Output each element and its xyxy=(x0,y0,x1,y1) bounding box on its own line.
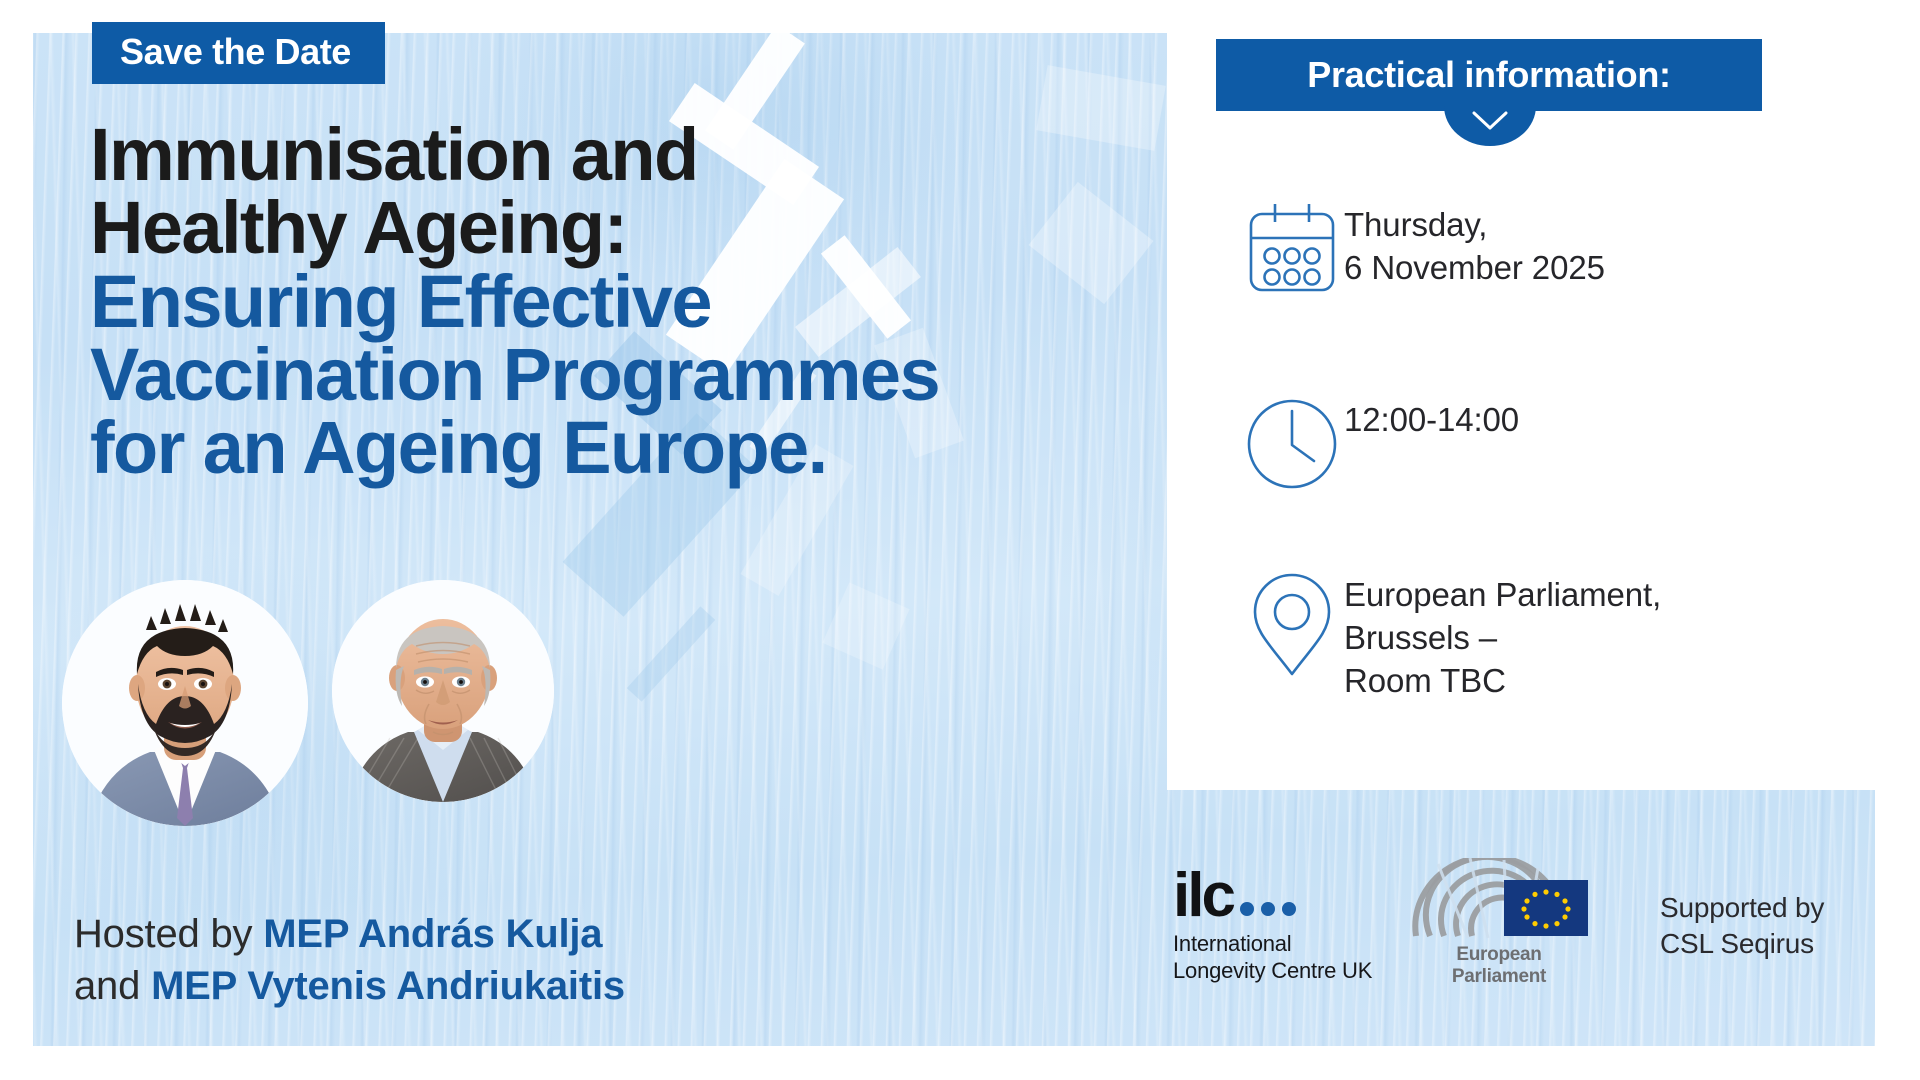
host-name-1: MEP András Kulja xyxy=(263,912,602,956)
host-name-2: MEP Vytenis Andriukaitis xyxy=(151,964,625,1008)
save-the-date-badge: Save the Date xyxy=(92,22,385,84)
hosts-prefix-1: Hosted by xyxy=(74,912,263,956)
ilc-subtitle-line-1: International xyxy=(1173,931,1372,958)
location-line-2: Brussels – xyxy=(1344,617,1661,660)
title-line-5: for an Ageing Europe. xyxy=(90,411,1150,484)
ilc-wordmark-row: ilc xyxy=(1173,866,1372,922)
ilc-dots-icon xyxy=(1240,902,1296,916)
title-line-4: Vaccination Programmes xyxy=(90,338,1150,411)
title-line-2: Healthy Ageing: xyxy=(90,191,1150,264)
location-line-1: European Parliament, xyxy=(1344,574,1661,617)
chevron-down-icon xyxy=(1469,108,1511,134)
hosts-credit: Hosted by MEP András Kulja and MEP Vyten… xyxy=(74,908,974,1012)
hosts-line-2: and MEP Vytenis Andriukaitis xyxy=(74,960,974,1012)
european-parliament-name: European Parliament xyxy=(1408,944,1590,988)
ilc-logo: ilc International Longevity Centre UK xyxy=(1173,866,1372,985)
clock-icon-wrap xyxy=(1240,395,1344,493)
avatar-andras-kulja xyxy=(62,580,308,826)
ilc-dot xyxy=(1240,902,1254,916)
calendar-icon-wrap xyxy=(1240,200,1344,298)
info-row-time: 12:00-14:00 xyxy=(1240,395,1519,493)
hosts-line-1: Hosted by MEP András Kulja xyxy=(74,908,974,960)
eu-stars-icon xyxy=(1504,880,1588,936)
location-line-3: Room TBC xyxy=(1344,660,1661,703)
location-pin-icon-wrap xyxy=(1240,570,1344,682)
portrait-photo xyxy=(332,580,554,802)
eu-flag-icon xyxy=(1504,880,1588,936)
portrait-photo xyxy=(62,580,308,826)
practical-information-banner: Practical information: xyxy=(1216,39,1762,111)
date-line-2: 6 November 2025 xyxy=(1344,247,1605,290)
info-row-date: Thursday, 6 November 2025 xyxy=(1240,200,1605,298)
page-title: Immunisation and Healthy Ageing: Ensurin… xyxy=(90,118,1150,484)
practical-information-title: Practical information: xyxy=(1307,57,1670,93)
ilc-wordmark: ilc xyxy=(1173,871,1233,922)
ilc-dot xyxy=(1261,902,1275,916)
save-the-date-poster: Save the Date Immunisation and Healthy A… xyxy=(0,0,1920,1080)
date-line-1: Thursday, xyxy=(1344,204,1605,247)
info-row-location: European Parliament, Brussels – Room TBC xyxy=(1240,570,1661,703)
location-text: European Parliament, Brussels – Room TBC xyxy=(1344,570,1661,703)
time-line-1: 12:00-14:00 xyxy=(1344,399,1519,442)
time-text: 12:00-14:00 xyxy=(1344,395,1519,442)
date-text: Thursday, 6 November 2025 xyxy=(1344,200,1605,290)
supported-line-2: CSL Seqirus xyxy=(1660,926,1824,962)
save-the-date-label: Save the Date xyxy=(120,34,351,70)
avatar-vytenis-andriukaitis xyxy=(332,580,554,802)
location-pin-icon xyxy=(1241,570,1343,682)
ep-graphic xyxy=(1408,858,1590,940)
supported-by-text: Supported by CSL Seqirus xyxy=(1660,890,1824,963)
supported-line-1: Supported by xyxy=(1660,890,1824,926)
ilc-subtitle: International Longevity Centre UK xyxy=(1173,931,1372,985)
title-line-3: Ensuring Effective xyxy=(90,265,1150,338)
hosts-prefix-2: and xyxy=(74,964,151,1008)
clock-icon xyxy=(1241,395,1343,493)
ilc-subtitle-line-2: Longevity Centre UK xyxy=(1173,958,1372,985)
title-line-1: Immunisation and xyxy=(90,118,1150,191)
calendar-icon xyxy=(1241,200,1343,298)
ilc-dot xyxy=(1282,902,1296,916)
european-parliament-logo: European Parliament xyxy=(1408,858,1590,988)
